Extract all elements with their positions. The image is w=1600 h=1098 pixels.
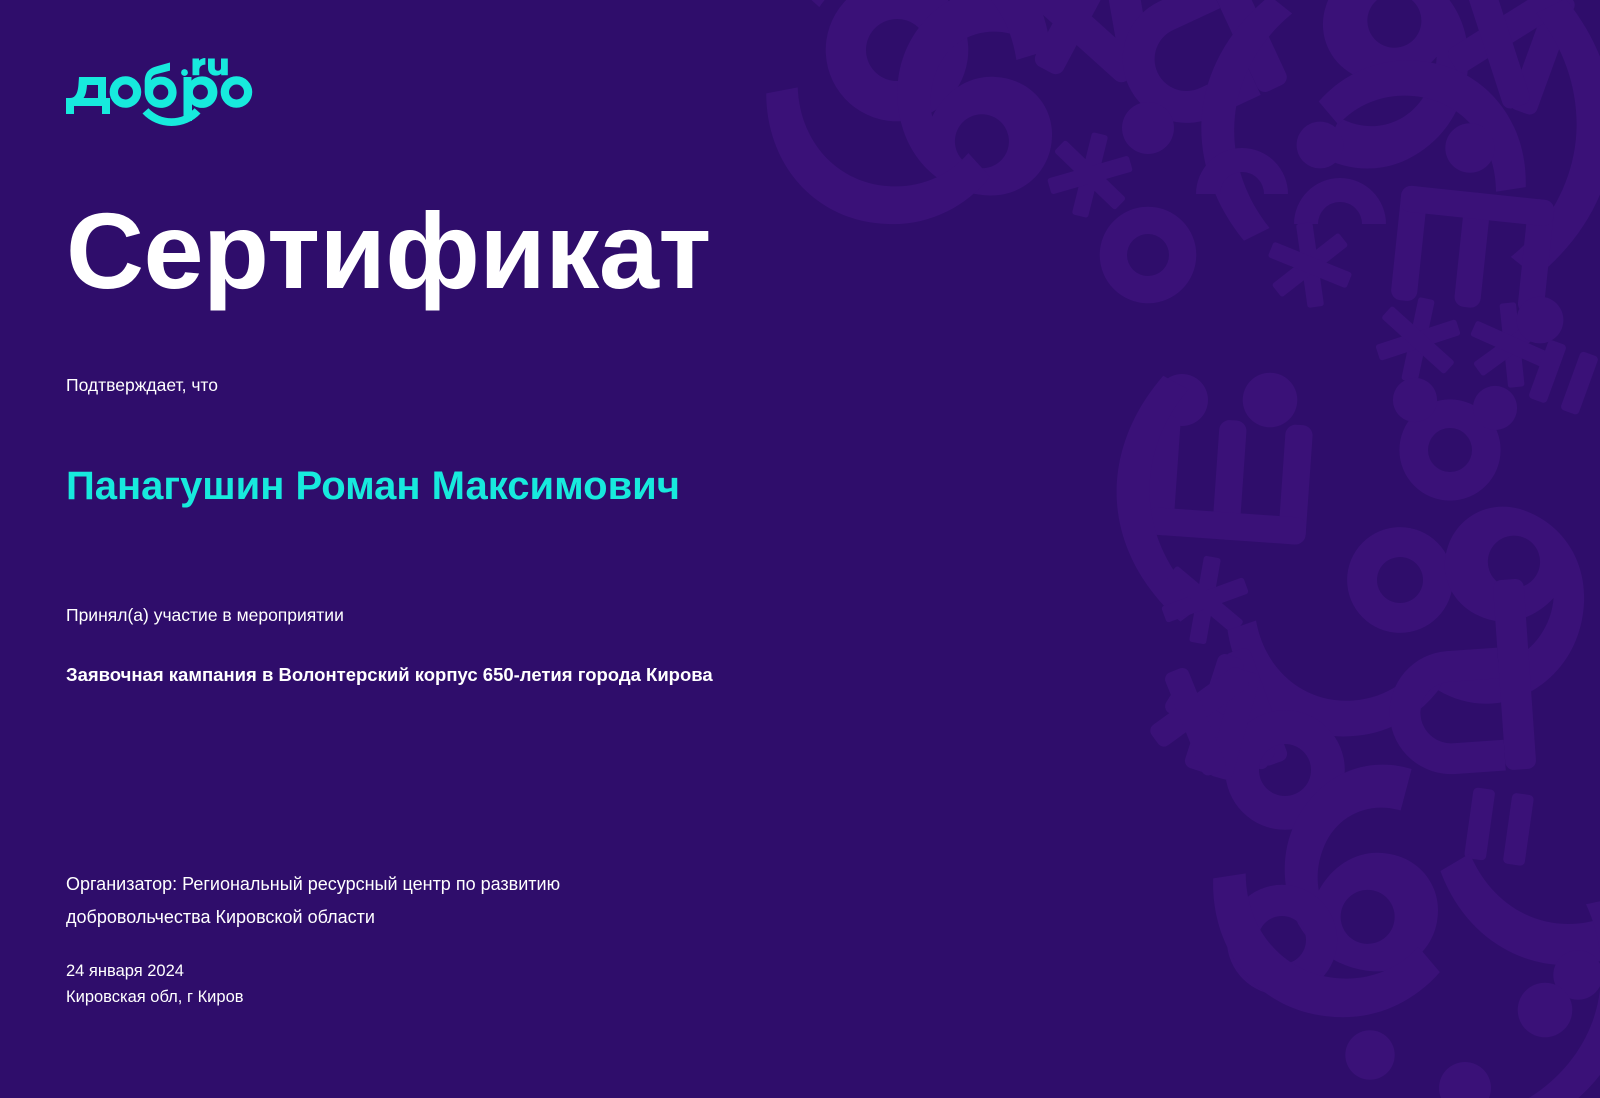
page-title: Сертификат	[66, 196, 711, 306]
certificate-content: Сертификат Подтверждает, что Панагушин Р…	[0, 0, 1600, 1098]
participation-label: Принял(а) участие в мероприятии	[66, 603, 344, 628]
dobro-ru-logo[interactable]	[66, 58, 266, 130]
confirms-label: Подтверждает, что	[66, 373, 218, 398]
issue-block: 24 января 2024 Кировская обл, г Киров	[66, 958, 244, 1010]
certificate-page: Сертификат Подтверждает, что Панагушин Р…	[0, 0, 1600, 1098]
event-title: Заявочная кампания в Волонтерский корпус…	[66, 662, 1066, 688]
organizer-line-2: добровольчества Кировской области	[66, 901, 786, 934]
organizer-block: Организатор: Региональный ресурсный цент…	[66, 868, 786, 934]
issue-date: 24 января 2024	[66, 958, 244, 984]
recipient-name: Панагушин Роман Максимович	[66, 452, 766, 520]
dobro-ru-logo-icon	[66, 58, 266, 130]
issue-place: Кировская обл, г Киров	[66, 984, 244, 1010]
organizer-line-1: Организатор: Региональный ресурсный цент…	[66, 868, 786, 901]
